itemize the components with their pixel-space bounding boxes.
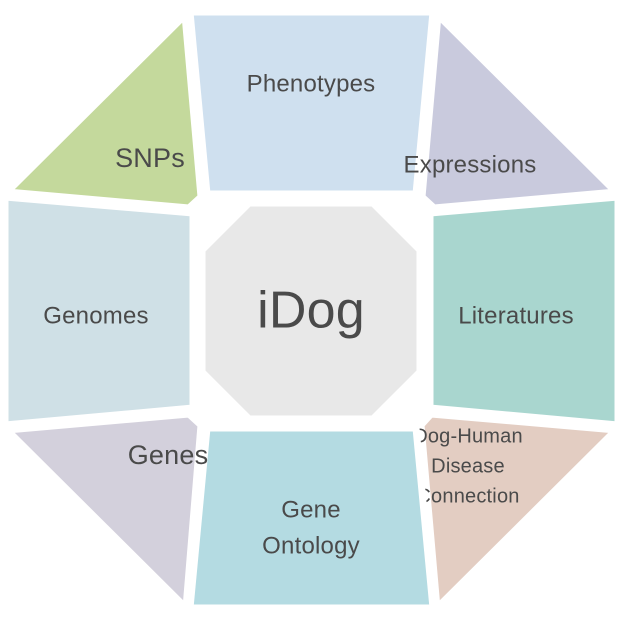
segment-dog-human-disease-connection-shape[interactable] bbox=[421, 414, 616, 608]
segment-genomes-shape[interactable] bbox=[5, 197, 193, 425]
center-hub-shape[interactable] bbox=[202, 203, 420, 419]
segment-gene-ontology[interactable]: Gene Ontology bbox=[190, 428, 433, 608]
segment-phenotypes-shape[interactable] bbox=[190, 12, 433, 194]
segment-dog-human-disease-connection[interactable]: Dog-Human Disease Connection bbox=[413, 414, 616, 608]
segment-genes-shape[interactable] bbox=[7, 414, 201, 608]
idog-hub-diagram: Phenotypes Expressions Literatures Dog-H… bbox=[0, 0, 623, 623]
segment-snps-shape[interactable] bbox=[7, 15, 201, 208]
segment-expressions-shape[interactable] bbox=[422, 15, 616, 208]
segment-snps[interactable]: SNPs bbox=[7, 15, 201, 208]
segment-gene-ontology-shape[interactable] bbox=[190, 428, 433, 608]
segment-literatures-shape[interactable] bbox=[430, 197, 618, 425]
segment-genomes[interactable]: Genomes bbox=[5, 197, 193, 425]
segment-genes[interactable]: Genes bbox=[7, 414, 208, 608]
center-hub[interactable]: iDog bbox=[202, 203, 420, 419]
segment-phenotypes[interactable]: Phenotypes bbox=[190, 12, 433, 194]
segment-literatures[interactable]: Literatures bbox=[430, 197, 618, 425]
hub-and-spoke-svg: Phenotypes Expressions Literatures Dog-H… bbox=[0, 0, 623, 623]
segment-expressions[interactable]: Expressions bbox=[404, 15, 616, 208]
